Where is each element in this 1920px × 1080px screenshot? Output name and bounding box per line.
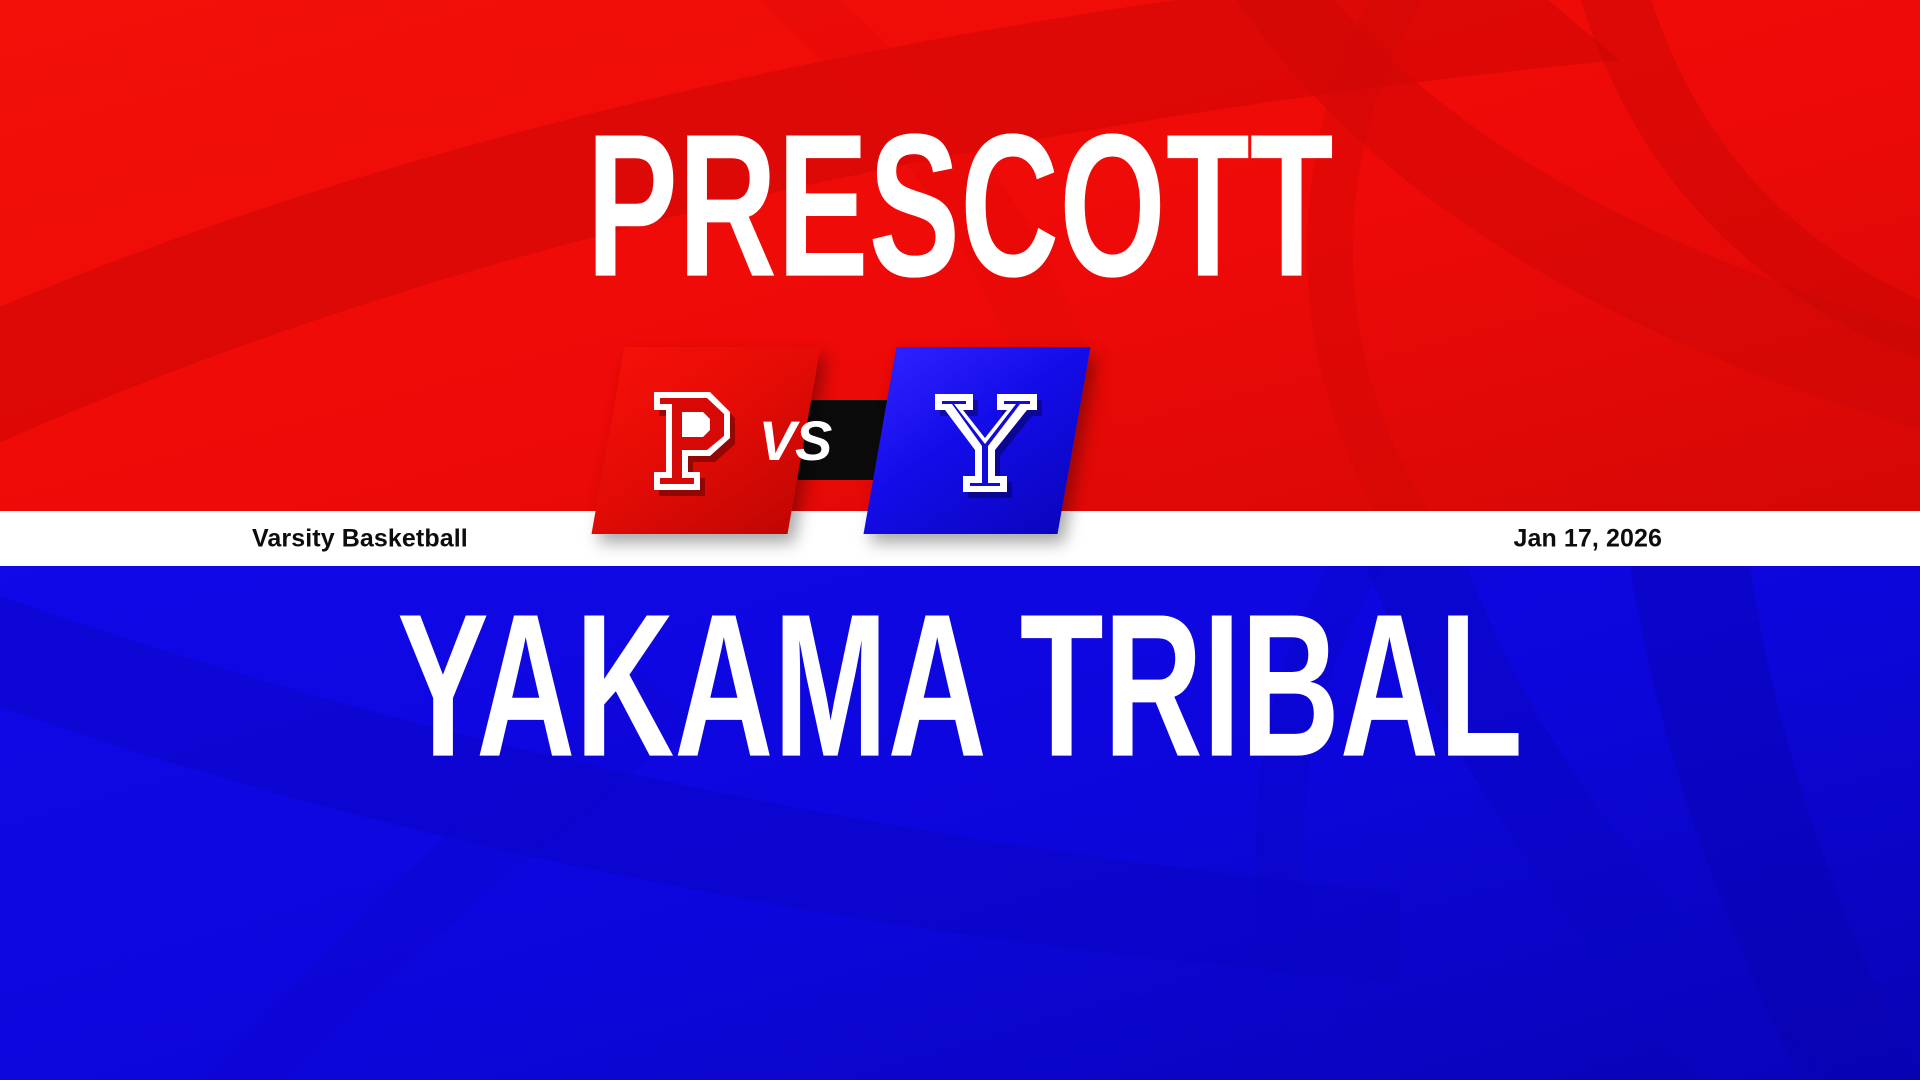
game-date: Jan 17, 2026: [1513, 524, 1662, 553]
matchup-graphic: PRESCOTT YAKAMA TRIBAL Varsity Basketbal…: [0, 0, 1920, 1080]
sport-label: Varsity Basketball: [252, 524, 468, 553]
home-team-name: PRESCOTT: [288, 104, 1632, 308]
home-team-initial-icon: [645, 382, 767, 500]
away-team-initial-icon: [928, 382, 1050, 500]
away-team-name: YAKAMA TRIBAL: [288, 584, 1632, 788]
